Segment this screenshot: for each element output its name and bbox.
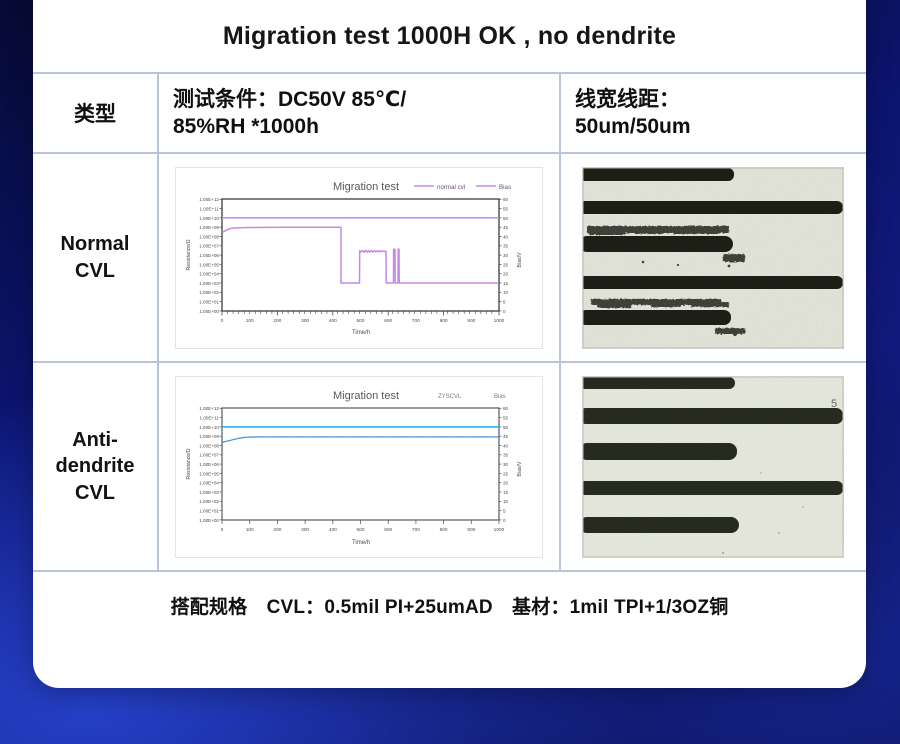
chart2-y2label: Bias/V (517, 460, 523, 476)
chart1-legend-label-normal-cvl: normal cvl (437, 184, 465, 191)
micrograph-anti-dendrite-cvl: 5 (582, 376, 844, 558)
svg-text:700: 700 (412, 527, 420, 533)
svg-text:1.00E+12: 1.00E+12 (199, 406, 219, 411)
header-condition-line1: 测试条件：DC50V 85℃/ (173, 86, 406, 113)
header-cell-type: 类型 (33, 74, 159, 152)
svg-text:600: 600 (384, 527, 392, 533)
svg-text:1.00E+00: 1.00E+00 (199, 517, 219, 522)
svg-text:60: 60 (503, 406, 509, 411)
row-label-line2: CVL (61, 258, 130, 284)
svg-text:50: 50 (503, 424, 509, 429)
svg-text:1.00E+12: 1.00E+12 (199, 197, 219, 202)
svg-text:1.00E+05: 1.00E+05 (199, 471, 219, 476)
chart1-y2label: Bias/V (517, 251, 523, 267)
svg-text:1.00E+09: 1.00E+09 (199, 225, 219, 230)
row-label-text: Anti- dendrite CVL (56, 427, 135, 506)
svg-text:45: 45 (503, 225, 509, 230)
svg-text:500: 500 (356, 318, 364, 324)
svg-text:1.00E+00: 1.00E+00 (199, 308, 219, 313)
row-label-anti-dendrite-cvl: Anti- dendrite CVL (33, 363, 159, 570)
svg-text:35: 35 (503, 243, 509, 248)
svg-text:100: 100 (246, 318, 254, 324)
svg-text:1.00E+04: 1.00E+04 (199, 480, 219, 485)
svg-text:1.00E+02: 1.00E+02 (199, 290, 219, 295)
micrograph-svg-anti-dendrite-cvl: 5 (583, 377, 843, 557)
svg-text:1.00E+02: 1.00E+02 (199, 499, 219, 504)
header-cell-condition: 测试条件：DC50V 85℃/ 85%RH *1000h (159, 74, 561, 152)
svg-text:1000: 1000 (494, 318, 505, 324)
svg-text:1.00E+06: 1.00E+06 (199, 462, 219, 467)
cell-micrograph-normal-cvl (561, 154, 864, 361)
svg-text:1.00E+07: 1.00E+07 (199, 243, 219, 248)
chart1-legend-label-bias: Bias (499, 184, 511, 191)
svg-text:1.00E+01: 1.00E+01 (199, 299, 219, 304)
page-title: Migration test 1000H OK , no dendrite (33, 0, 866, 72)
svg-text:40: 40 (503, 234, 509, 239)
svg-text:60: 60 (503, 197, 509, 202)
svg-text:30: 30 (503, 253, 509, 258)
svg-text:1.00E+10: 1.00E+10 (199, 215, 219, 220)
row-label-line3: CVL (56, 480, 135, 506)
header-linewidth-line2: 50um/50um (575, 113, 691, 140)
chart-svg-normal-cvl: Migration test normal cvl Bias 1.00E+12 (176, 168, 542, 348)
row-label-text: Normal CVL (61, 231, 130, 284)
header-linewidth-text: 线宽线距： 50um/50um (575, 86, 691, 141)
svg-text:25: 25 (503, 262, 509, 267)
svg-text:100: 100 (246, 527, 254, 533)
svg-text:1.00E+03: 1.00E+03 (199, 280, 219, 285)
row-label-normal-cvl: Normal CVL (33, 154, 159, 361)
header-cell-linewidth: 线宽线距： 50um/50um (561, 74, 864, 152)
svg-text:5: 5 (503, 508, 506, 513)
svg-text:400: 400 (329, 527, 337, 533)
svg-text:900: 900 (467, 527, 475, 533)
svg-text:1.00E+11: 1.00E+11 (200, 206, 220, 211)
table-row: Normal CVL Migration test normal cvl (33, 152, 866, 361)
page-root: Migration test 1000H OK , no dendrite 类型… (0, 0, 900, 744)
svg-text:5: 5 (503, 299, 506, 304)
svg-text:0: 0 (221, 318, 224, 324)
chart2-xlabel: Time/h (352, 540, 370, 546)
chart1-ylabel: Resistance/Ω (186, 239, 192, 270)
migration-test-chart-anti-dendrite-cvl: Migration test ZYSCVL Bias 1.00E+12 1.00… (175, 376, 543, 558)
row-label-line1: Anti- (56, 427, 135, 453)
svg-text:0: 0 (221, 527, 224, 533)
svg-text:30: 30 (503, 462, 509, 467)
header-linewidth-line1: 线宽线距： (575, 86, 691, 113)
micrograph-svg-normal-cvl (583, 168, 843, 348)
chart-svg-anti-dendrite-cvl: Migration test ZYSCVL Bias 1.00E+12 1.00… (176, 377, 542, 557)
chart2-legend-label-anti-cvl: ZYSCVL (438, 394, 462, 400)
chart1-title: Migration test (333, 181, 399, 193)
svg-text:15: 15 (503, 280, 509, 285)
row-label-line2: dendrite (56, 453, 135, 479)
header-condition-line2: 85%RH *1000h (173, 113, 406, 140)
svg-text:500: 500 (356, 527, 364, 533)
cell-chart-anti-dendrite-cvl: Migration test ZYSCVL Bias 1.00E+12 1.00… (159, 363, 561, 570)
svg-text:1.00E+11: 1.00E+11 (200, 415, 220, 420)
svg-text:55: 55 (503, 415, 509, 420)
migration-test-table: 类型 测试条件：DC50V 85℃/ 85%RH *1000h 线宽线距： 50… (33, 72, 866, 638)
svg-text:1.00E+03: 1.00E+03 (199, 489, 219, 494)
svg-text:600: 600 (384, 318, 392, 324)
svg-text:300: 300 (301, 318, 309, 324)
svg-text:1.00E+05: 1.00E+05 (199, 262, 219, 267)
svg-text:45: 45 (503, 434, 509, 439)
table-row: Anti- dendrite CVL Migration test ZYSCVL… (33, 361, 866, 570)
header-type-label: 类型 (74, 98, 116, 128)
chart1-xlabel: Time/h (352, 330, 370, 336)
cell-micrograph-anti-dendrite-cvl: 5 (561, 363, 864, 570)
svg-text:800: 800 (440, 318, 448, 324)
svg-text:15: 15 (503, 489, 509, 494)
svg-text:200: 200 (273, 318, 281, 324)
header-condition-text: 测试条件：DC50V 85℃/ 85%RH *1000h (173, 86, 406, 141)
svg-text:700: 700 (412, 318, 420, 324)
svg-text:35: 35 (503, 452, 509, 457)
svg-text:1.00E+04: 1.00E+04 (199, 271, 219, 276)
cell-chart-normal-cvl: Migration test normal cvl Bias 1.00E+12 (159, 154, 561, 361)
svg-text:10: 10 (503, 499, 509, 504)
svg-text:900: 900 (467, 318, 475, 324)
table-header-row: 类型 测试条件：DC50V 85℃/ 85%RH *1000h 线宽线距： 50… (33, 72, 866, 152)
svg-text:20: 20 (503, 271, 509, 276)
micrograph-normal-cvl (582, 167, 844, 349)
row-label-line1: Normal (61, 231, 130, 257)
svg-text:1.00E+09: 1.00E+09 (199, 434, 219, 439)
chart2-ylabel: Resistance/Ω (186, 448, 192, 479)
svg-text:1.00E+08: 1.00E+08 (199, 443, 219, 448)
svg-text:1.00E+07: 1.00E+07 (199, 452, 219, 457)
svg-text:1.00E+10: 1.00E+10 (199, 424, 219, 429)
svg-text:40: 40 (503, 443, 509, 448)
content-card: Migration test 1000H OK , no dendrite 类型… (33, 0, 866, 688)
svg-text:1000: 1000 (494, 527, 505, 533)
svg-text:25: 25 (503, 471, 509, 476)
svg-text:10: 10 (503, 290, 509, 295)
chart2-title: Migration test (333, 390, 399, 402)
svg-text:800: 800 (440, 527, 448, 533)
svg-text:0: 0 (503, 517, 506, 522)
micrograph-scale-mark: 5 (831, 398, 837, 410)
svg-text:200: 200 (273, 527, 281, 533)
svg-text:1.00E+06: 1.00E+06 (199, 253, 219, 258)
svg-text:300: 300 (301, 527, 309, 533)
migration-test-chart-normal-cvl: Migration test normal cvl Bias 1.00E+12 (175, 167, 543, 349)
svg-text:1.00E+01: 1.00E+01 (199, 508, 219, 513)
spec-footer: 搭配规格 CVL：0.5mil PI+25umAD 基材：1mil TPI+1/… (33, 570, 866, 638)
svg-text:1.00E+08: 1.00E+08 (199, 234, 219, 239)
svg-text:50: 50 (503, 215, 509, 220)
svg-text:55: 55 (503, 206, 509, 211)
svg-text:0: 0 (503, 308, 506, 313)
svg-text:20: 20 (503, 480, 509, 485)
svg-text:400: 400 (329, 318, 337, 324)
chart2-legend-label-bias: Bias (494, 394, 506, 400)
